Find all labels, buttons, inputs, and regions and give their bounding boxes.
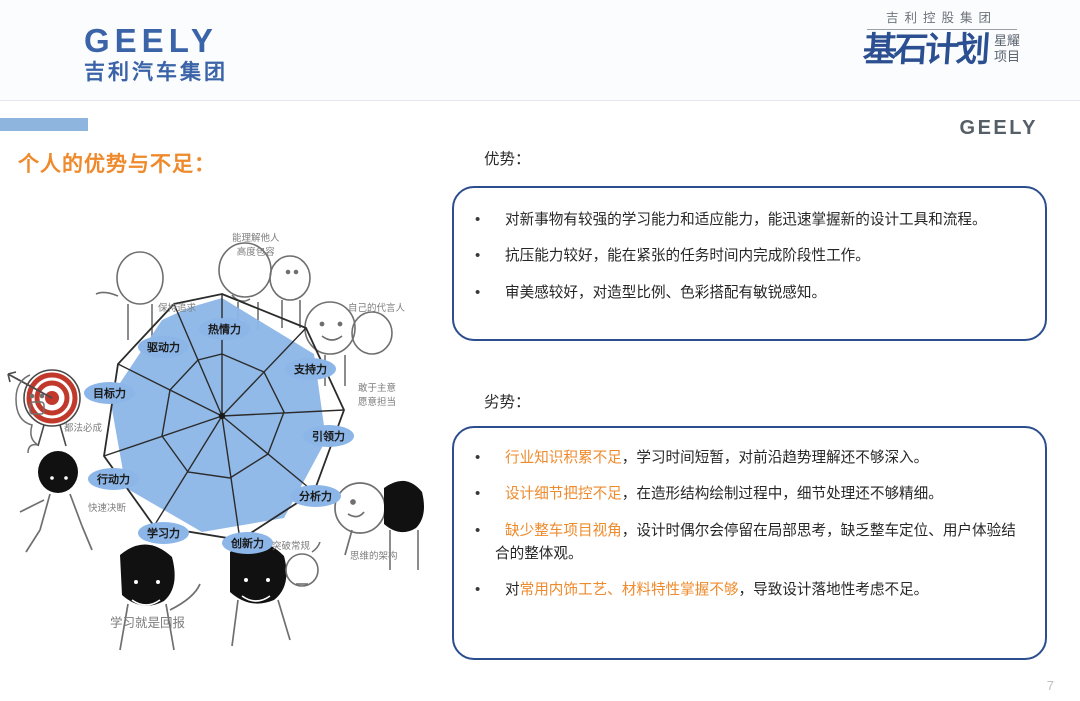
- title-accent-bar: [0, 118, 88, 131]
- disadvantage-text: 行业知识积累不足，学习时间短暂，对前沿趋势理解还不够深入。: [495, 446, 1023, 469]
- annotation-responsibility: 敢于主意 愿意担当: [358, 380, 396, 408]
- disadvantage-item: •设计细节把控不足，在造形结构绘制过程中，细节处理还不够精细。: [472, 482, 1023, 505]
- annotation-learning-reward: 学习就是回报: [110, 612, 185, 631]
- disadvantage-item: •对常用内饰工艺、材料特性掌握不够，导致设计落地性考虑不足。: [472, 578, 1023, 601]
- disadvantage-rest: ，在造形结构绘制过程中，细节处理还不够精细。: [622, 485, 943, 502]
- advantage-text: 对新事物有较强的学习能力和适应能力，能迅速掌握新的设计工具和流程。: [495, 208, 1023, 231]
- brand-program-name: 基石计划: [862, 33, 988, 69]
- radar-illustration: 热情力 支持力 引领力 分析力 创新力 学习力 行动力 目标力 驱动力 能理解他…: [0, 200, 450, 670]
- radar-label-action: 行动力: [88, 468, 139, 490]
- geely-logo: GEELY 吉利汽车集团: [84, 24, 324, 83]
- advantage-item: •审美感较好，对造型比例、色彩搭配有敏锐感知。: [472, 281, 1023, 304]
- radar-label-passion: 热情力: [199, 318, 250, 340]
- slide-root: GEELY 吉利汽车集团 吉利控股集团 基石计划 星耀 项目 个人的优势与不足：…: [0, 0, 1080, 701]
- disadvantage-text: 设计细节把控不足，在造形结构绘制过程中，细节处理还不够精细。: [495, 482, 1023, 505]
- brand-group-name: 吉利控股集团: [839, 12, 1044, 29]
- bullet-icon: •: [472, 578, 495, 601]
- disadvantage-rest: ，导致设计落地性考虑不足。: [739, 581, 929, 598]
- bullet-icon: •: [472, 446, 495, 469]
- annotation-spokesperson: 自己的代言人: [348, 300, 405, 314]
- radar-label-drive: 驱动力: [138, 336, 189, 358]
- disadvantage-highlight: 缺少整车项目视角: [505, 522, 622, 539]
- radar-label-goal: 目标力: [84, 382, 135, 404]
- annotation-breakthrough: 突破常规: [272, 538, 310, 552]
- bullet-icon: •: [472, 482, 495, 505]
- disadvantages-panel: •行业知识积累不足，学习时间短暂，对前沿趋势理解还不够深入。•设计细节把控不足，…: [452, 426, 1047, 660]
- advantage-item: •抗压能力较好，能在紧张的任务时间内完成阶段性工作。: [472, 244, 1023, 267]
- brand-main-row: 基石计划 星耀 项目: [839, 33, 1044, 69]
- running-person-icon: [20, 451, 92, 552]
- bullet-icon: •: [472, 208, 495, 231]
- annotation-fast-decision: 快速决断: [88, 500, 126, 514]
- disadvantage-lead: 对: [505, 581, 520, 598]
- disadvantage-highlight: 行业知识积累不足: [505, 449, 622, 466]
- disadvantage-item: •缺少整车项目视角，设计时偶尔会停留在局部思考，缺乏整车定位、用户体验结合的整体…: [472, 519, 1023, 565]
- magnifier-person-icon: [335, 483, 385, 555]
- idea-person-icon: [230, 542, 320, 646]
- brand-sub-line2: 项目: [994, 50, 1020, 66]
- disadvantage-rest: ，学习时间短暂，对前沿趋势理解还不够深入。: [622, 449, 928, 466]
- geely-corner-logo: GEELY: [960, 117, 1038, 140]
- advantage-text: 审美感较好，对造型比例、色彩搭配有敏锐感知。: [495, 281, 1023, 304]
- radar-label-support: 支持力: [285, 358, 336, 380]
- bullet-icon: •: [472, 244, 495, 267]
- radar-label-lead: 引领力: [303, 425, 354, 447]
- annotation-thinking-structure: 思维的架构: [350, 548, 398, 562]
- annotation-must-succeed: 都法必成: [64, 420, 102, 434]
- disadvantage-text: 对常用内饰工艺、材料特性掌握不够，导致设计落地性考虑不足。: [495, 578, 1023, 601]
- page-number: 7: [1047, 678, 1054, 693]
- advantage-text: 抗压能力较好，能在紧张的任务时间内完成阶段性工作。: [495, 244, 1023, 267]
- disadvantage-text: 缺少整车项目视角，设计时偶尔会停留在局部思考，缺乏整车定位、用户体验结合的整体观…: [495, 519, 1023, 565]
- geely-logo-wordmark: GEELY: [84, 24, 324, 57]
- disadvantage-highlight: 常用内饰工艺、材料特性掌握不够: [520, 581, 739, 598]
- advantages-label: 优势：: [484, 147, 531, 169]
- disadvantage-highlight: 设计细节把控不足: [505, 485, 622, 502]
- brand-sub-line1: 星耀: [994, 34, 1020, 50]
- advantages-panel: •对新事物有较强的学习能力和适应能力，能迅速掌握新的设计工具和流程。•抗压能力较…: [452, 186, 1047, 341]
- geely-logo-chinese: 吉利汽车集团: [84, 62, 324, 83]
- slide-header: GEELY 吉利汽车集团 吉利控股集团 基石计划 星耀 项目: [0, 0, 1080, 101]
- advantage-item: •对新事物有较强的学习能力和适应能力，能迅速掌握新的设计工具和流程。: [472, 208, 1023, 231]
- program-brand-logo: 吉利控股集团 基石计划 星耀 项目: [839, 12, 1044, 68]
- disadvantage-item: •行业知识积累不足，学习时间短暂，对前沿趋势理解还不够深入。: [472, 446, 1023, 469]
- page-title: 个人的优势与不足：: [18, 148, 216, 178]
- brand-project-label: 星耀 项目: [994, 34, 1020, 67]
- radar-chart-svg: [0, 200, 450, 670]
- header-divider: [0, 100, 1080, 101]
- student-person-icon: [120, 544, 200, 650]
- bullet-icon: •: [472, 281, 495, 304]
- annotation-empathy: 能理解他人 高度包容: [232, 230, 280, 258]
- bullet-icon: •: [472, 519, 495, 565]
- radar-label-innovation: 创新力: [222, 532, 273, 554]
- radar-center-dot: [219, 413, 225, 419]
- radar-label-analysis: 分析力: [290, 485, 341, 507]
- disadvantages-label: 劣势：: [484, 390, 531, 412]
- annotation-pursuit: 保持追求: [158, 300, 196, 314]
- radar-label-learning: 学习力: [138, 522, 189, 544]
